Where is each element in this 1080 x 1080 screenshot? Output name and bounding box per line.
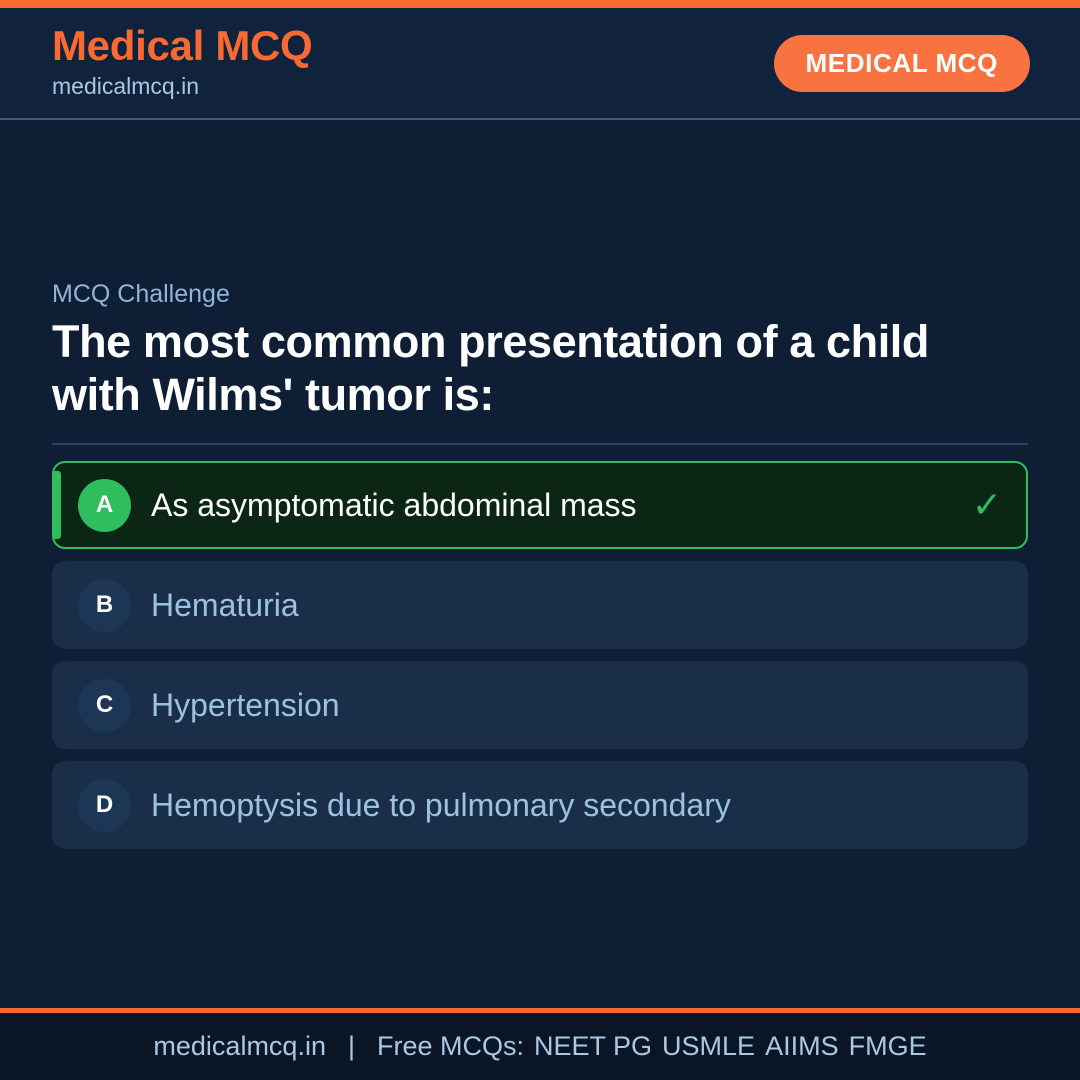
option-a[interactable]: A As asymptomatic abdominal mass ✓ [52, 461, 1028, 549]
footer-tags: Free MCQs:NEET PGUSMLEAIIMSFMGE [377, 1033, 927, 1060]
options-list: A As asymptomatic abdominal mass ✓ B Hem… [52, 461, 1028, 849]
option-a-badge: A [78, 479, 131, 532]
brand-subtitle: medicalmcq.in [52, 71, 312, 102]
option-d-label: Hemoptysis due to pulmonary secondary [151, 786, 960, 824]
option-c[interactable]: C Hypertension ✓ [52, 661, 1028, 749]
header-badge: MEDICAL MCQ [774, 35, 1030, 92]
check-icon: ✓ [972, 487, 1002, 523]
footer: medicalmcq.in | Free MCQs:NEET PGUSMLEAI… [0, 1008, 1080, 1080]
footer-separator: | [326, 1033, 377, 1060]
option-c-badge: C [78, 679, 131, 732]
question-divider [52, 443, 1028, 445]
mcq-card: Medical MCQ medicalmcq.in MEDICAL MCQ MC… [0, 0, 1080, 1080]
option-c-label: Hypertension [151, 686, 960, 724]
footer-tags-label: Free MCQs: [377, 1031, 524, 1061]
question-text: The most common presentation of a child … [52, 316, 1028, 421]
option-a-label: As asymptomatic abdominal mass [151, 486, 958, 524]
brand: Medical MCQ medicalmcq.in [52, 24, 312, 102]
option-b-badge: B [78, 579, 131, 632]
top-accent-strip [0, 0, 1080, 8]
eyebrow-label: MCQ Challenge [52, 279, 1028, 309]
footer-tag-usmle: USMLE [652, 1031, 755, 1061]
option-b-label: Hematuria [151, 586, 960, 624]
footer-tag-aiims: AIIMS [755, 1031, 839, 1061]
footer-tag-fmge: FMGE [839, 1031, 927, 1061]
correct-accent-bar [54, 471, 61, 539]
header: Medical MCQ medicalmcq.in MEDICAL MCQ [0, 8, 1080, 120]
brand-title: Medical MCQ [52, 24, 312, 68]
main-content: MCQ Challenge The most common presentati… [0, 120, 1080, 1008]
option-b[interactable]: B Hematuria ✓ [52, 561, 1028, 649]
option-d-badge: D [78, 779, 131, 832]
footer-site: medicalmcq.in [153, 1033, 326, 1060]
option-d[interactable]: D Hemoptysis due to pulmonary secondary … [52, 761, 1028, 849]
footer-tag-neetpg: NEET PG [524, 1031, 652, 1061]
